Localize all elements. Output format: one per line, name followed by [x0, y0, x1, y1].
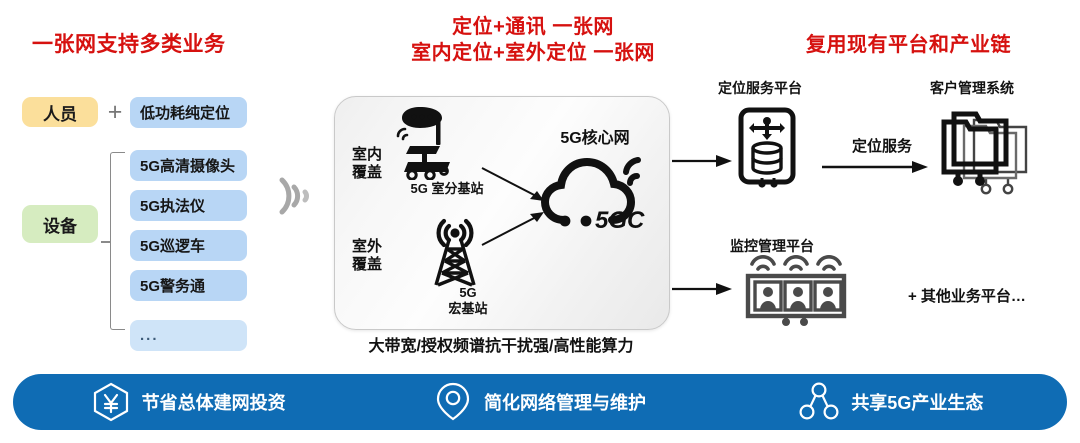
indoor-small-cell-icon	[392, 104, 478, 180]
location-pin-icon	[434, 381, 472, 423]
outdoor-caption-line2: 宏基站	[438, 301, 498, 317]
positioning-service-label: 定位服务	[832, 135, 932, 156]
outdoor-caption-line1: 5G	[438, 285, 498, 301]
arrow-positioning-to-crm	[822, 158, 930, 176]
outdoor-caption: 5G 宏基站	[438, 285, 498, 317]
badge-person[interactable]: 人员	[22, 97, 98, 127]
database-platform-icon	[736, 106, 798, 190]
arrow-panel-to-positioning	[672, 152, 734, 170]
left-section-title: 一张网支持多类业务	[32, 28, 226, 58]
list-item-camera[interactable]: 5G高清摄像头	[130, 150, 247, 181]
crm-system-caption: 客户管理系统	[902, 78, 1042, 98]
list-item-law-enforcement[interactable]: 5G执法仪	[130, 190, 247, 221]
list-item-more[interactable]: ...	[130, 320, 247, 351]
outdoor-label-line2: 覆盖	[352, 256, 382, 274]
benefit-label-management: 简化网络管理与维护	[484, 389, 646, 415]
benefit-label-investment: 节省总体建网投资	[142, 389, 286, 415]
arrow-panel-to-monitoring	[672, 280, 734, 298]
badge-device[interactable]: 设备	[22, 205, 98, 243]
indoor-label-line1: 室内	[352, 146, 382, 164]
folder-stack-icon	[930, 104, 1034, 196]
indoor-label-line2: 覆盖	[352, 164, 382, 182]
wifi-wave-icon	[272, 168, 324, 224]
diagram-canvas: 一张网支持多类业务 定位+通讯 一张网 室内定位+室外定位 一张网 复用现有平台…	[0, 0, 1080, 443]
yen-hexagon-icon	[92, 382, 130, 422]
monitoring-platform-caption: 监控管理平台	[712, 236, 832, 256]
benefit-item-investment[interactable]: 节省总体建网投资	[13, 382, 364, 422]
indoor-coverage-label: 室内 覆盖	[352, 146, 382, 182]
right-section-title: 复用现有平台和产业链	[806, 28, 1011, 57]
benefit-item-ecosystem[interactable]: 共享5G产业生态	[716, 382, 1067, 422]
center-section-title: 定位+通讯 一张网 室内定位+室外定位 一张网	[388, 14, 678, 66]
monitor-wall-icon	[740, 254, 852, 326]
list-item-low-power[interactable]: 低功耗纯定位	[130, 97, 247, 128]
plus-icon: +	[103, 98, 127, 126]
core-badge-text: 5GC	[595, 207, 645, 232]
center-title-line1: 定位+通讯 一张网	[388, 14, 678, 40]
outdoor-coverage-label: 室外 覆盖	[352, 238, 382, 274]
cloud-5gc-icon: 5GC	[540, 148, 650, 232]
center-panel-footer: 大带宽/授权频谱抗干扰强/高性能算力	[334, 332, 668, 356]
outdoor-label-line1: 室外	[352, 238, 382, 256]
benefit-label-ecosystem: 共享5G产业生态	[851, 389, 983, 415]
device-bracket	[110, 152, 125, 330]
other-platforms-label: + 其他业务平台…	[908, 285, 1026, 306]
positioning-platform-caption: 定位服务平台	[700, 78, 820, 98]
benefits-bar: 节省总体建网投资 简化网络管理与维护	[13, 374, 1067, 430]
benefit-item-management[interactable]: 简化网络管理与维护	[364, 381, 715, 423]
share-nodes-icon	[799, 382, 839, 422]
core-network-caption: 5G核心网	[540, 124, 650, 148]
center-title-line2: 室内定位+室外定位 一张网	[388, 40, 678, 66]
list-item-patrol-car[interactable]: 5G巡逻车	[130, 230, 247, 261]
list-item-police-terminal[interactable]: 5G警务通	[130, 270, 247, 301]
